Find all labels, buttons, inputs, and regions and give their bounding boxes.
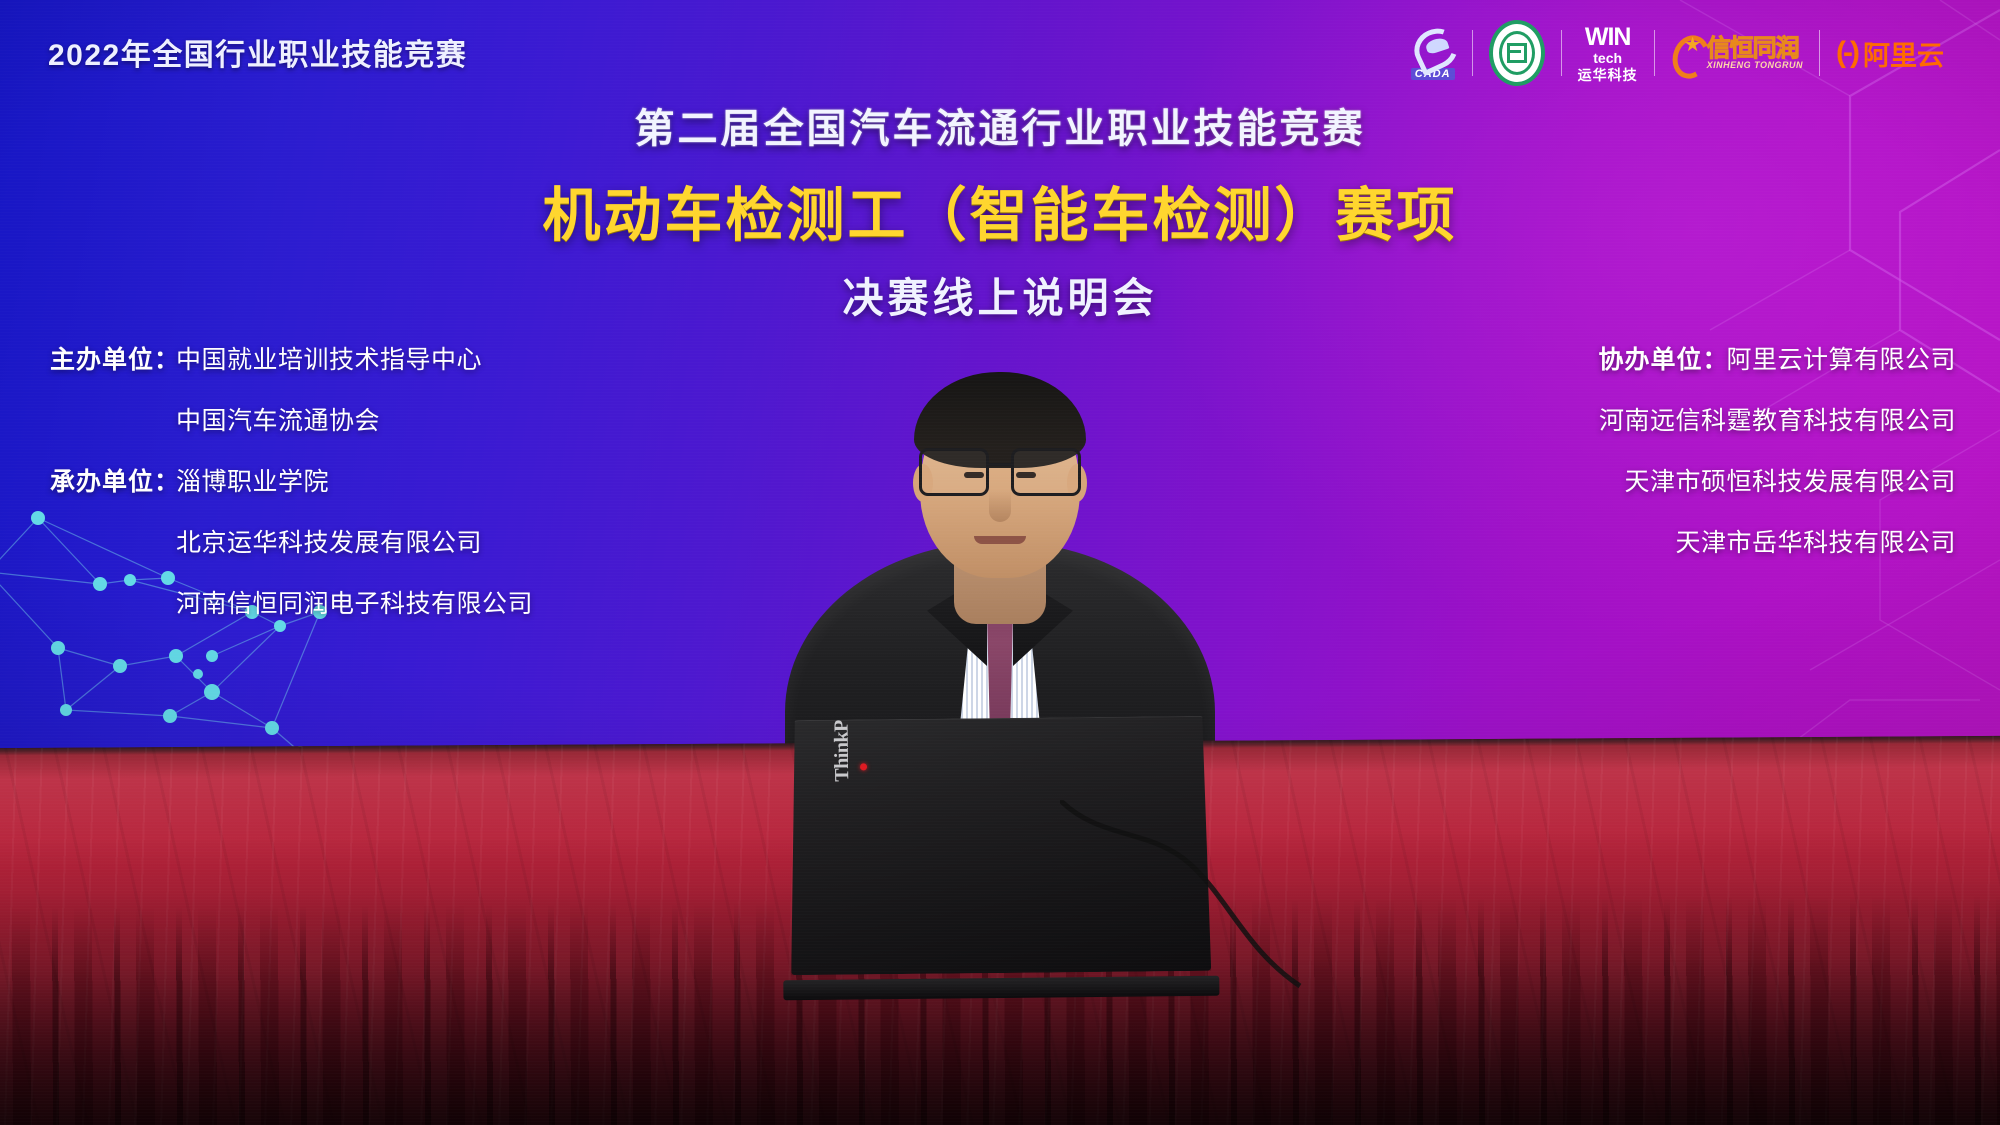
laptop-lid: ThinkPad [789, 716, 1212, 975]
wintech-line3: 运华科技 [1578, 68, 1638, 82]
organizer-value: 河南远信科霆教育科技有限公司 [1599, 409, 1956, 434]
organizer-value: 中国就业培训技术指导中心 [176, 348, 482, 373]
green-seal-logo [1473, 22, 1561, 84]
organizer-group-coorganizer: 协办单位： 阿里云计算有限公司 河南远信科霆教育科技有限公司 天津市硕恒科技发展… [1598, 348, 1956, 556]
organizers-left-block: 主办单位： 中国就业培训技术指导中心 中国汽车流通协会 承办单位： 淄博职业学院… [50, 348, 533, 653]
glasses-icon [917, 448, 1083, 494]
organizers-right-block: 协办单位： 阿里云计算有限公司 河南远信科霆教育科技有限公司 天津市硕恒科技发展… [1598, 348, 1956, 592]
organizer-value: 阿里云计算有限公司 [1726, 348, 1956, 373]
presenter-mouth [974, 536, 1026, 544]
organizer-row: 主办单位： 中国就业培训技术指导中心 [50, 348, 533, 373]
organizer-value: 中国汽车流通协会 [176, 409, 380, 434]
organizer-value: 天津市岳华科技有限公司 [1675, 531, 1956, 556]
laptop: ThinkPad [789, 716, 1212, 1000]
organizer-row: 天津市岳华科技有限公司 [1598, 531, 1956, 556]
star-icon: ★ [1684, 35, 1702, 55]
seal-glyph-icon [1507, 43, 1527, 63]
competition-title-line2: 机动车检测工（智能车检测）赛项 [0, 168, 2000, 252]
wintech-line2: tech [1578, 51, 1638, 65]
organizer-row: 河南远信科霆教育科技有限公司 [1598, 409, 1956, 434]
organizer-label: 主办单位： [50, 348, 168, 373]
presentation-stage-screenshot: 2022年全国行业职业技能竞赛 CADA WIN tech 运华科技 [0, 0, 2000, 1125]
aliyun-logo: (-) 阿里云 [1820, 22, 1960, 84]
xinheng-swoosh-icon: ★ [1671, 33, 1705, 73]
thinkpad-red-dot-icon [860, 763, 867, 770]
organizer-group-undertaker: 承办单位： 淄博职业学院 北京运华科技发展有限公司 河南信恒同润电子科技有限公司 [50, 470, 533, 617]
organizer-row: 协办单位： 阿里云计算有限公司 [1598, 348, 1956, 373]
wintech-line1: WIN [1585, 23, 1631, 51]
organizer-value: 淄博职业学院 [176, 470, 329, 495]
cada-swoosh-icon [1410, 27, 1456, 67]
organizer-row: 北京运华科技发展有限公司 [50, 531, 533, 556]
aliyun-cn-text: 阿里云 [1863, 34, 1944, 73]
competition-title-line1: 第二届全国汽车流通行业职业技能竞赛 [0, 96, 2000, 154]
xinheng-cn-text: 信恒同润 [1707, 37, 1803, 61]
presenter-nose [989, 490, 1011, 522]
organizer-label: 承办单位： [50, 470, 168, 495]
organizer-row: 承办单位： 淄博职业学院 [50, 470, 533, 495]
organizer-row: 河南信恒同润电子科技有限公司 [50, 592, 533, 617]
organizer-row: 天津市硕恒科技发展有限公司 [1598, 470, 1956, 495]
cada-logo: CADA [1394, 22, 1472, 84]
organizer-group-host: 主办单位： 中国就业培训技术指导中心 中国汽车流通协会 [50, 348, 533, 434]
wintech-logo: WIN tech 运华科技 [1562, 22, 1654, 84]
xinheng-tongrun-logo: ★ 信恒同润 XINHENG TONGRUN [1655, 22, 1819, 84]
organizer-value: 河南信恒同润电子科技有限公司 [176, 592, 533, 617]
xinheng-en-text: XINHENG TONGRUN [1707, 61, 1803, 70]
competition-title-line3: 决赛线上说明会 [0, 264, 2000, 324]
main-title-block: 第二届全国汽车流通行业职业技能竞赛 机动车检测工（智能车检测）赛项 决赛线上说明… [0, 96, 2000, 324]
organizer-label: 协办单位： [1598, 348, 1718, 373]
organizer-value: 北京运华科技发展有限公司 [176, 531, 482, 556]
glasses-bridge [987, 463, 1013, 466]
event-series-title: 2022年全国行业职业技能竞赛 [48, 30, 467, 74]
aliyun-bracket-icon: (-) [1836, 38, 1857, 68]
glasses-lens-left [919, 448, 989, 496]
organizer-row: 中国汽车流通协会 [50, 409, 533, 434]
sponsor-logo-bar: CADA WIN tech 运华科技 ★ 信恒同润 [1394, 20, 1960, 86]
organizer-value: 天津市硕恒科技发展有限公司 [1624, 470, 1956, 495]
glasses-lens-right [1011, 448, 1081, 496]
